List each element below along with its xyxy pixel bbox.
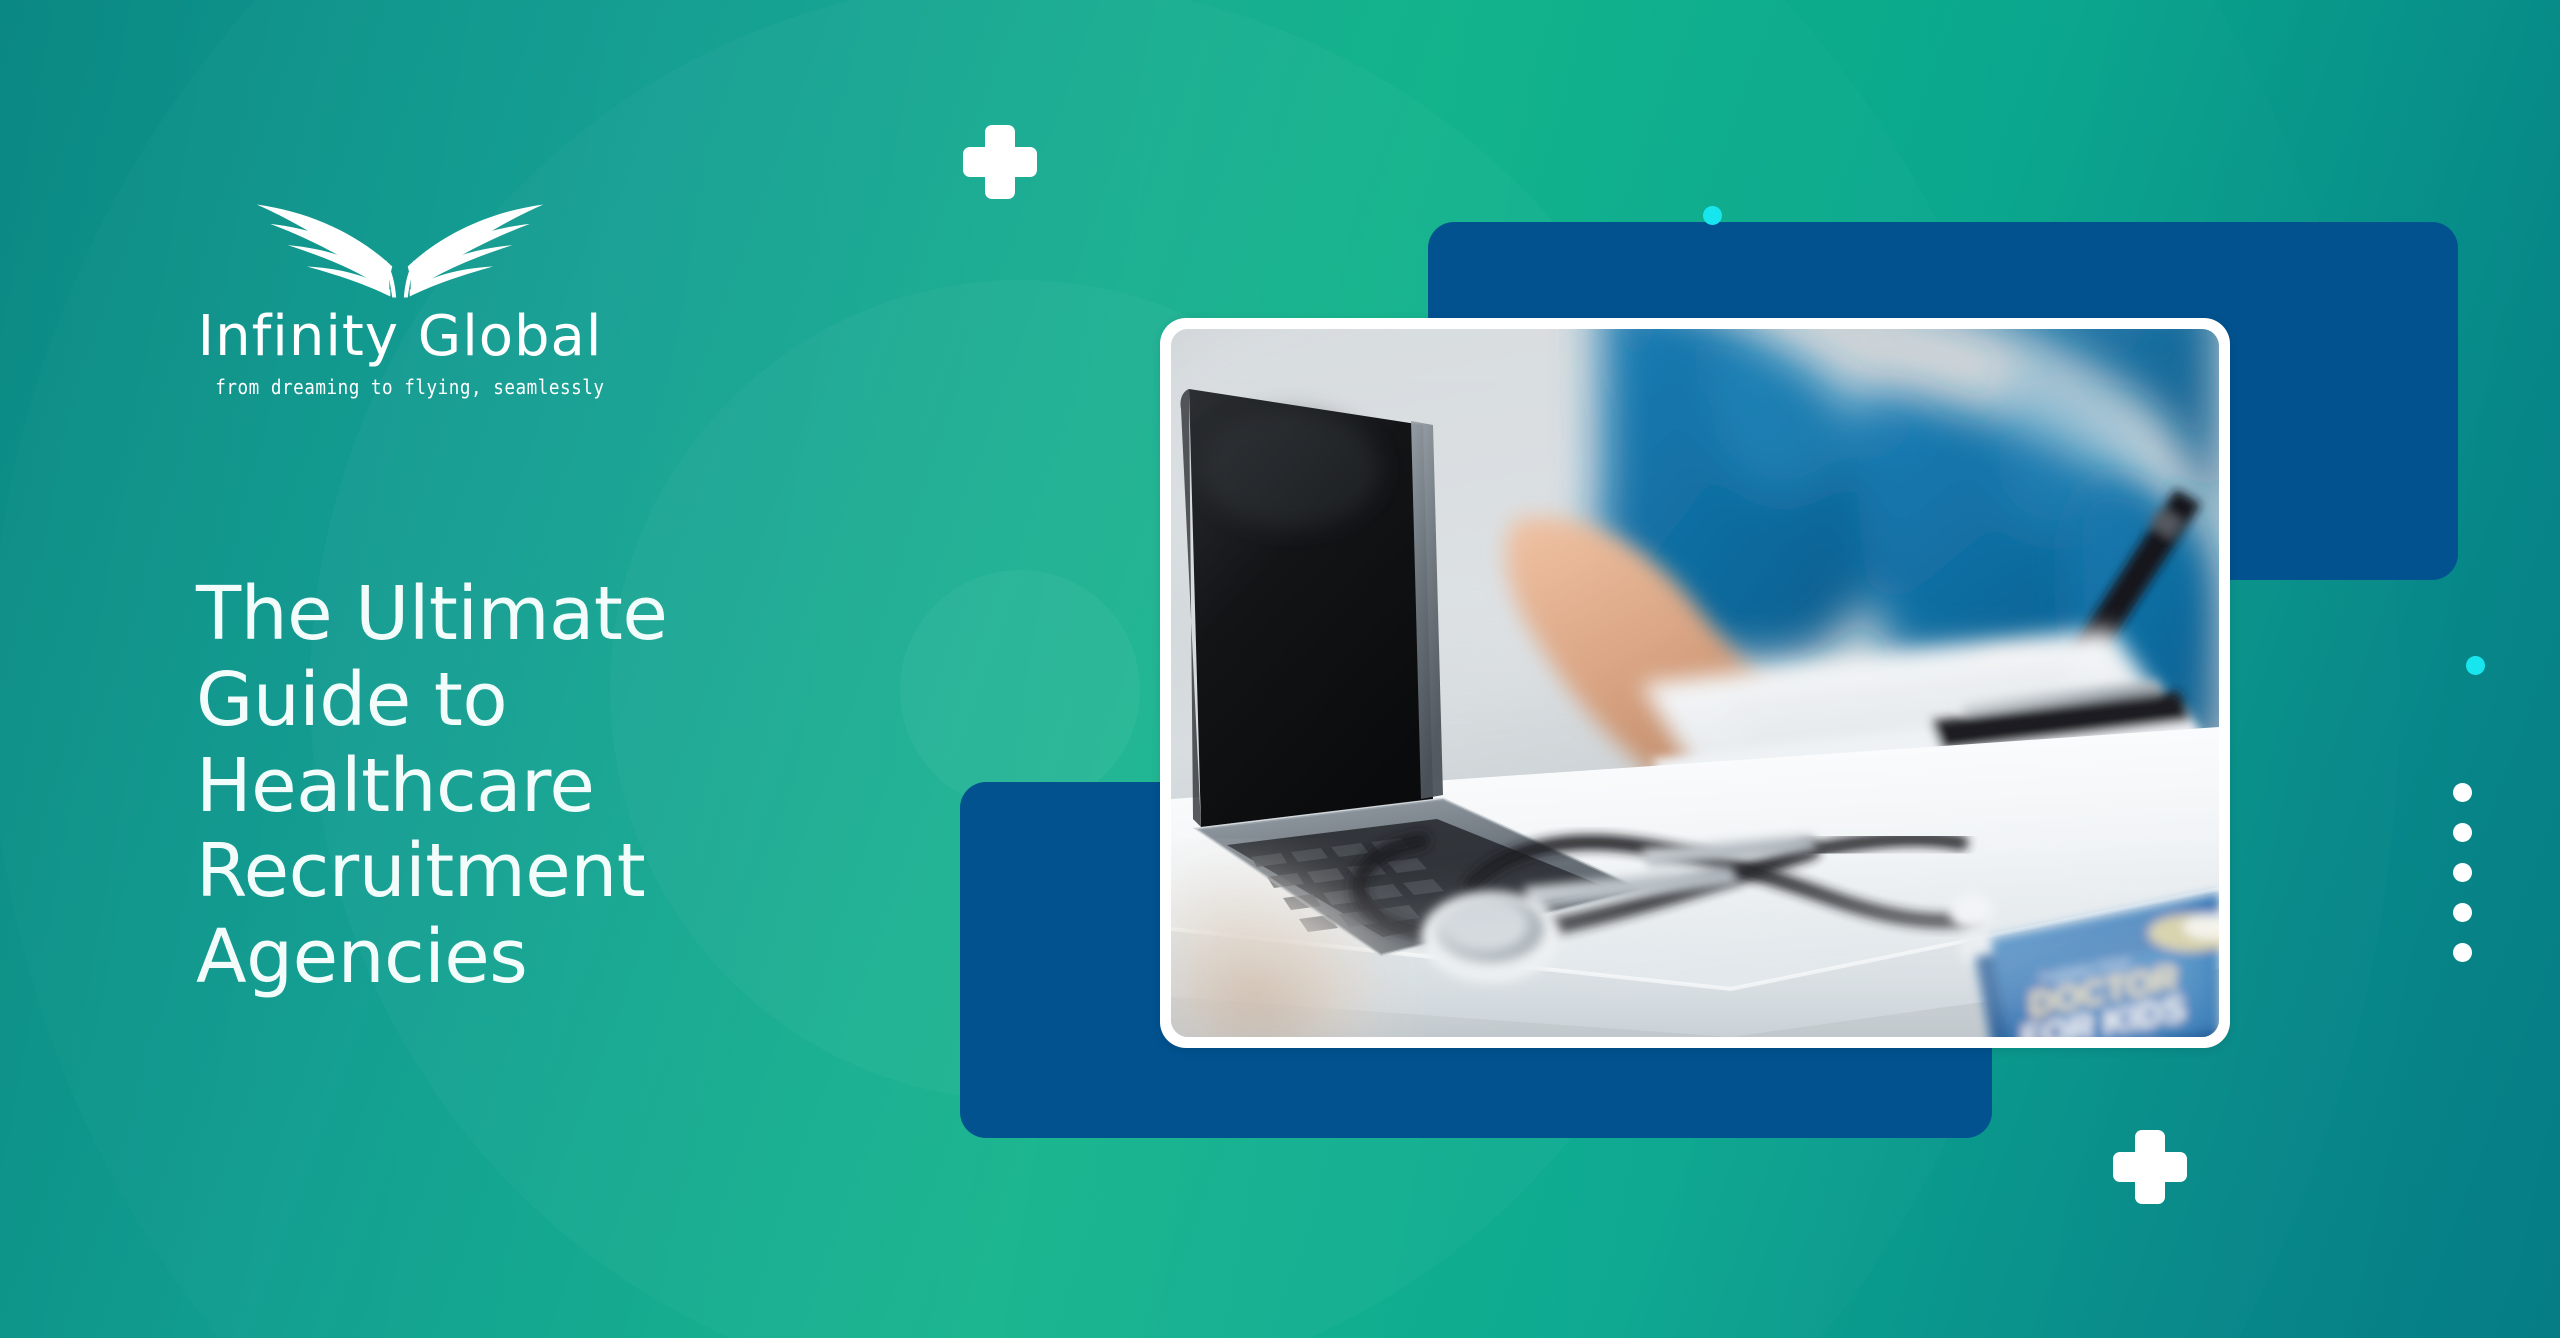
white-dot-1: [2453, 783, 2472, 802]
cyan-dot-right-edge: [2466, 656, 2485, 675]
white-dot-3: [2453, 863, 2472, 882]
page-title: The Ultimate Guide to Healthcare Recruit…: [196, 572, 836, 1001]
cyan-dot-near-frame: [1703, 206, 1722, 225]
white-dot-5: [2453, 943, 2472, 962]
headline-line-5: Agencies: [196, 915, 836, 1001]
headline-line-1: The Ultimate: [196, 572, 836, 658]
brand-logo: Infinity Global from dreaming to flying,…: [190, 195, 610, 399]
healthcare-desk-illustration: Pediatric Clinic DOCTOR FOR KIDS we give…: [1171, 329, 2219, 1037]
banner-canvas: Infinity Global from dreaming to flying,…: [0, 0, 2560, 1338]
white-dot-4: [2453, 903, 2472, 922]
brand-name: Infinity Global: [190, 309, 610, 365]
white-dot-2: [2453, 823, 2472, 842]
photo-image: Pediatric Clinic DOCTOR FOR KIDS we give…: [1171, 329, 2219, 1037]
medical-cross-icon-bottom: [2113, 1130, 2187, 1204]
photo-card: Pediatric Clinic DOCTOR FOR KIDS we give…: [1160, 318, 2230, 1048]
headline-line-4: Recruitment: [196, 829, 836, 915]
wings-icon: [245, 195, 555, 305]
brand-tagline: from dreaming to flying, seamlessly: [215, 375, 585, 399]
headline-line-3: Healthcare: [196, 744, 836, 830]
headline-line-2: Guide to: [196, 658, 836, 744]
medical-cross-icon-top: [963, 125, 1037, 199]
